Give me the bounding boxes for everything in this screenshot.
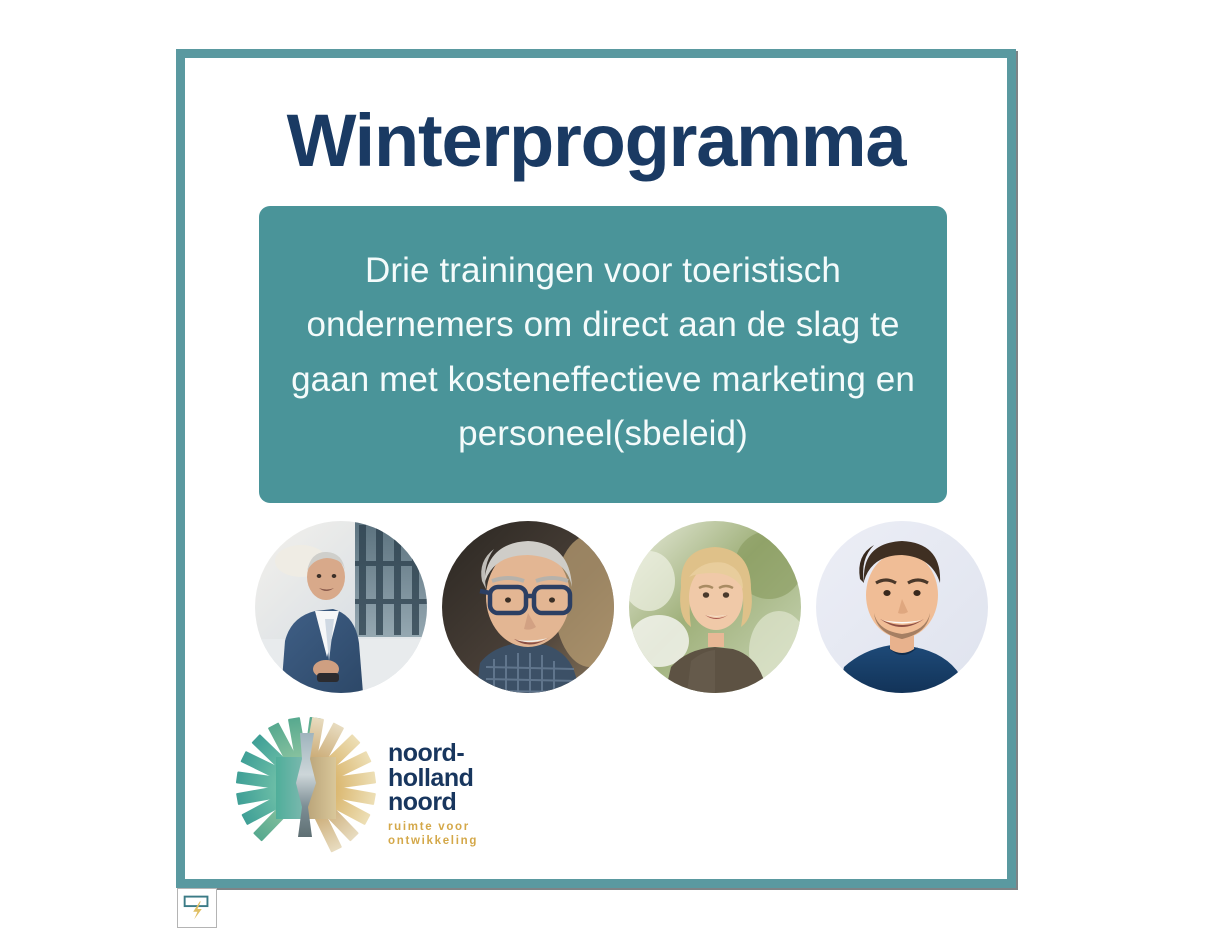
subtitle-box: Drie trainingen voor toeristisch onderne… bbox=[259, 206, 947, 503]
portrait-woman-blonde bbox=[629, 521, 801, 693]
portrait-row bbox=[255, 519, 955, 695]
logo-line-1: noord- bbox=[388, 741, 478, 766]
logo-line-2: holland bbox=[388, 766, 478, 791]
logo-wordmark: noord- holland noord ruimte voor ontwikk… bbox=[388, 741, 478, 848]
sunburst-icon bbox=[230, 711, 382, 863]
portrait-man-glasses bbox=[442, 521, 614, 693]
broken-image-icon[interactable] bbox=[177, 888, 217, 928]
subtitle-text: Drie trainingen voor toeristisch onderne… bbox=[279, 244, 927, 461]
page-title: Winterprogramma bbox=[185, 102, 1007, 180]
poster-inner: Winterprogramma Drie trainingen voor toe… bbox=[185, 58, 1007, 879]
poster-canvas: Winterprogramma Drie trainingen voor toe… bbox=[0, 0, 1207, 946]
logo-tagline-2: ontwikkeling bbox=[388, 834, 478, 848]
logo-tagline-1: ruimte voor bbox=[388, 820, 478, 834]
portrait-man-navy-shirt bbox=[816, 521, 988, 693]
portrait-man-blue-suit bbox=[255, 521, 427, 693]
logo-line-3: noord bbox=[388, 790, 478, 815]
poster-frame: Winterprogramma Drie trainingen voor toe… bbox=[176, 49, 1016, 888]
organization-logo: noord- holland noord ruimte voor ontwikk… bbox=[230, 699, 550, 874]
logo-tagline: ruimte voor ontwikkeling bbox=[388, 820, 478, 848]
